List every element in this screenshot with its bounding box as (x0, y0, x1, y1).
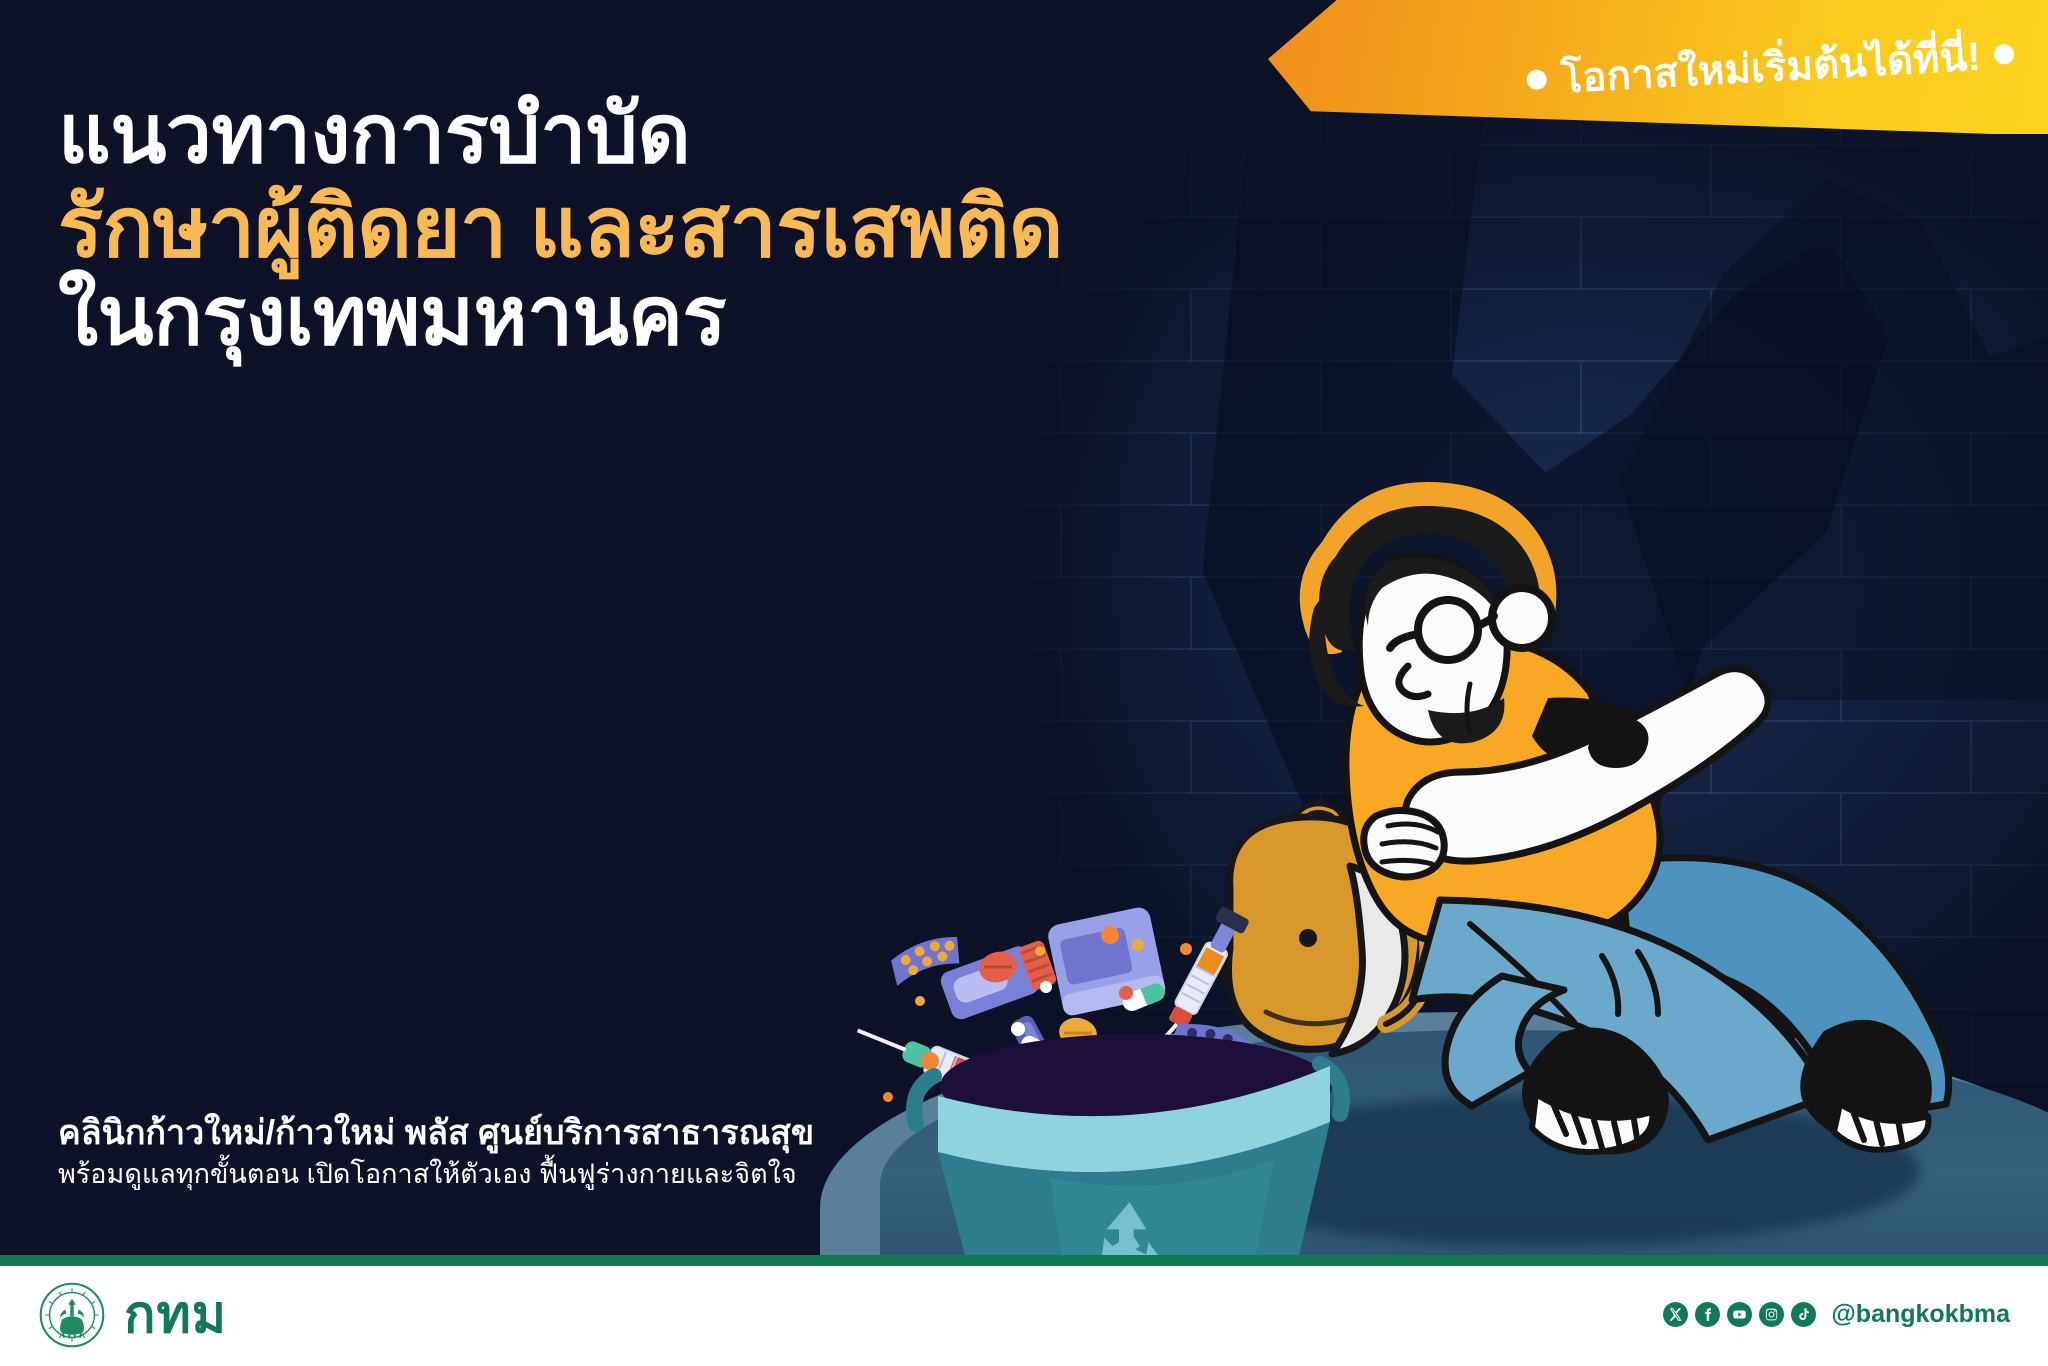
poster-canvas: โอกาสใหม่เริ่มต้นได้ที่นี่! แนวทางการบำบ… (0, 0, 2048, 1366)
headline-line-1: แนวทางการบำบัด (58, 92, 1218, 179)
headline-block: แนวทางการบำบัด รักษาผู้ติดยา และสารเสพติ… (58, 92, 1218, 361)
subtext-line-2: พร้อมดูแลทุกขั้นตอน เปิดโอกาสให้ตัวเอง ฟ… (58, 1158, 1058, 1190)
org-abbrev-label: กทม (124, 1289, 227, 1341)
headline-line-2: รักษาผู้ติดยา และสารเสพติด (58, 183, 1218, 272)
facebook-icon[interactable] (1695, 1302, 1720, 1327)
footer-social: @bangkokbma (1663, 1300, 2010, 1329)
subtext-block: คลินิกก้าวใหม่/ก้าวใหม่ พลัส ศูนย์บริการ… (58, 1113, 1058, 1191)
subtext-line-1: คลินิกก้าวใหม่/ก้าวใหม่ พลัส ศูนย์บริการ… (58, 1113, 1058, 1153)
x-twitter-icon[interactable] (1663, 1302, 1688, 1327)
bma-seal-logo-icon (38, 1281, 106, 1349)
footer-brand: กทม (38, 1281, 227, 1349)
youtube-icon[interactable] (1727, 1302, 1752, 1327)
instagram-icon[interactable] (1759, 1302, 1784, 1327)
tiktok-icon[interactable] (1791, 1302, 1816, 1327)
bullet-dot-left-icon (1526, 69, 1547, 90)
bullet-dot-right-icon (1994, 44, 2015, 65)
headline-line-3: ในกรุงเทพมหานคร (58, 274, 1218, 361)
promo-badge-text: โอกาสใหม่เริ่มต้นได้ที่นี่! (1559, 24, 1982, 111)
social-handle-label: @bangkokbma (1831, 1300, 2010, 1329)
footer-accent-bar (0, 1255, 2048, 1266)
